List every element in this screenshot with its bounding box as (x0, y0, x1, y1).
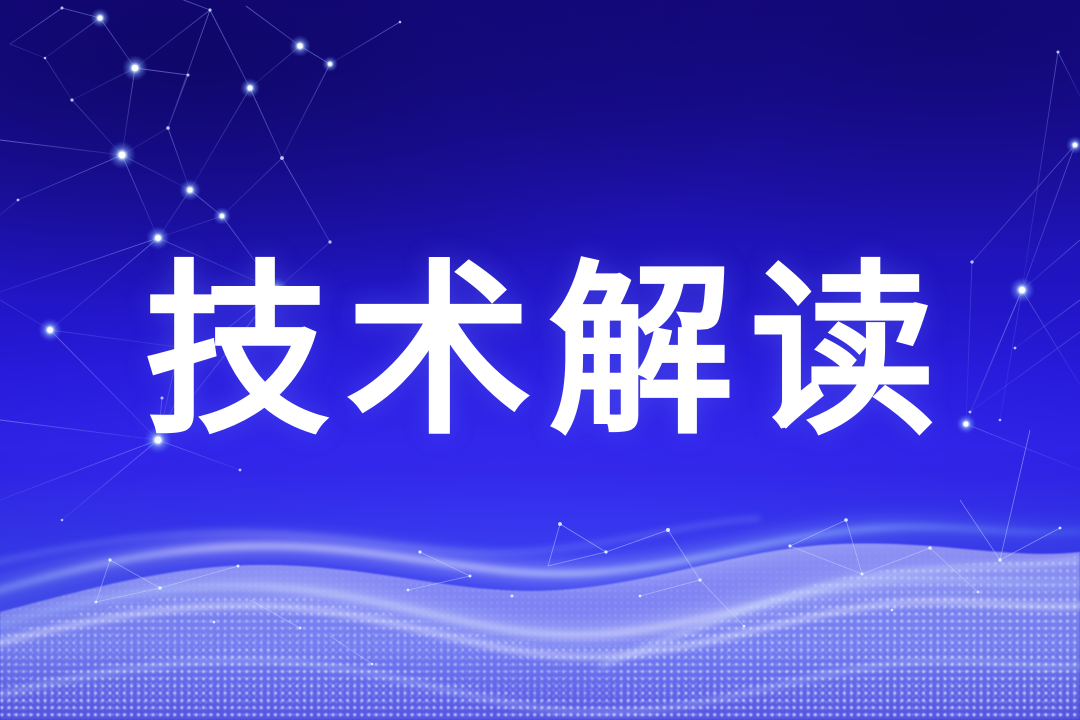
particle-wave-layer (0, 0, 1080, 720)
tech-banner: 技术解读 (0, 0, 1080, 720)
